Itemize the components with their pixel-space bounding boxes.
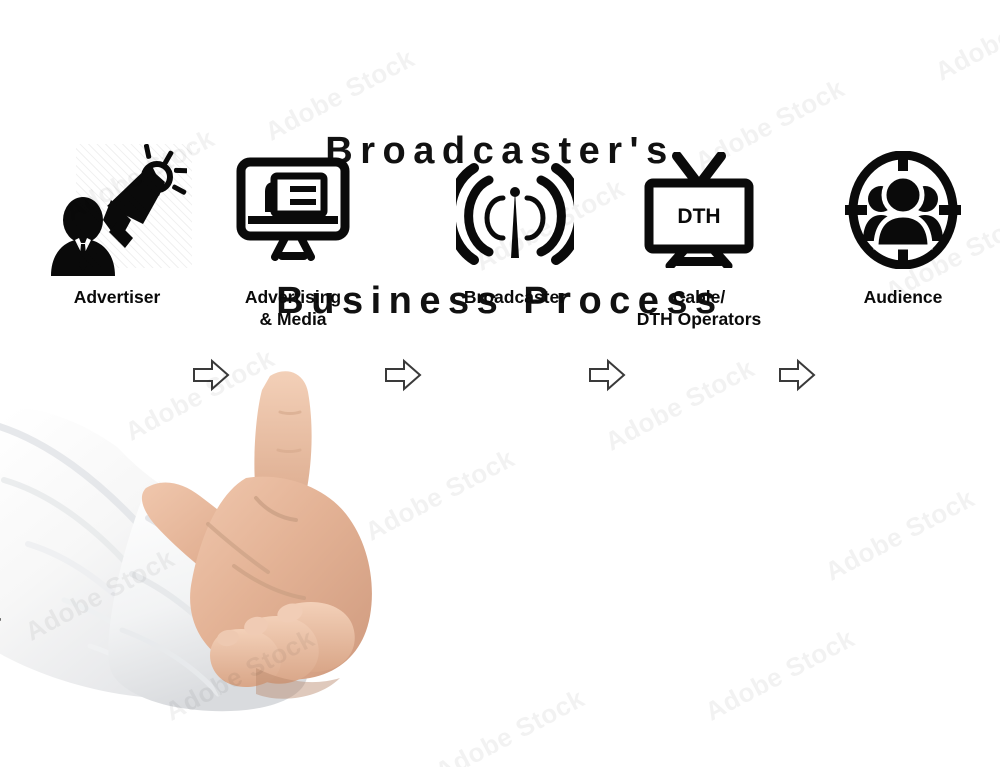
broadcast-antenna-signal-icon (456, 154, 574, 266)
flow-node-audience[interactable]: Audience (818, 140, 988, 370)
television-dth-icon: DTH (640, 152, 758, 268)
process-flow-diagram: Advertiser (0, 140, 1000, 370)
target-audience-group-icon (845, 151, 961, 269)
flow-arrow-4 (778, 358, 816, 392)
watermark-tile: Adobe Stock (430, 683, 590, 767)
flow-node-label: Audience (818, 286, 988, 308)
watermark-tile: Adobe Stock (820, 483, 980, 588)
cable-dth-icon-box: DTH (614, 140, 784, 280)
arrow-right-icon (778, 358, 816, 392)
desktop-monitor-media-icon (234, 156, 352, 264)
flow-node-cable-dth-operators[interactable]: DTH Cable/ DTH Operators (614, 140, 784, 370)
arrow-right-icon (588, 358, 626, 392)
hand-and-sleeve-illustration (0, 368, 414, 767)
flow-node-broadcaster[interactable]: Broadcaster (430, 140, 600, 370)
flow-node-label: Broadcaster (430, 286, 600, 308)
flow-node-advertising-media[interactable]: Advertising & Media (208, 140, 378, 370)
hand-pointing-photo (0, 368, 414, 767)
advertising-icon-box (208, 140, 378, 280)
broadcaster-icon-box (430, 140, 600, 280)
flow-node-label: Cable/ DTH Operators (614, 286, 784, 330)
flow-node-advertiser[interactable]: Advertiser (32, 140, 202, 370)
screenshot-root: Broadcaster's Business Process (0, 0, 1000, 767)
businessman-with-megaphone-icon (47, 144, 187, 276)
advertiser-icon-box (32, 140, 202, 280)
flow-node-label: Advertiser (32, 286, 202, 308)
flow-node-label: Advertising & Media (208, 286, 378, 330)
audience-icon-box (818, 140, 988, 280)
flow-arrow-3 (588, 358, 626, 392)
watermark-tile: Adobe Stock (700, 623, 860, 728)
tv-screen-text: DTH (677, 205, 720, 228)
